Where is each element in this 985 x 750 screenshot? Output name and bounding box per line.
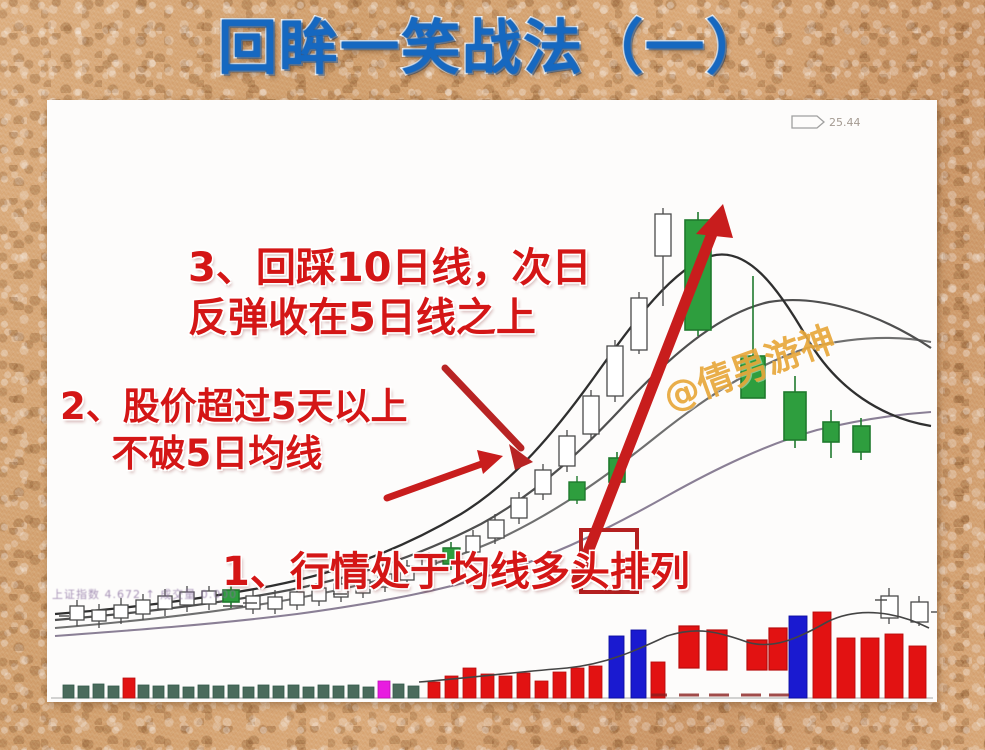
price-tag: 25.44 bbox=[792, 116, 861, 129]
volume-bars-red-hollow bbox=[679, 626, 787, 670]
svg-text:25.44: 25.44 bbox=[829, 116, 861, 129]
volume-indicator-caption: 上证指数 4.672 ↑ 成交量 0.000 bbox=[52, 586, 237, 602]
volume-bar-magenta bbox=[378, 681, 390, 698]
annotation-step-2: 2、股价超过5天以上 不破5日均线 bbox=[60, 383, 408, 477]
volume-bars-teal bbox=[63, 684, 419, 698]
annotation-step-3: 3、回踩10日线，次日 反弹收在5日线之上 bbox=[188, 243, 592, 343]
page-title: 回眸一笑战法（一） bbox=[0, 14, 985, 82]
annotation-step-1: 1、行情处于均线多头排列 bbox=[222, 547, 690, 597]
